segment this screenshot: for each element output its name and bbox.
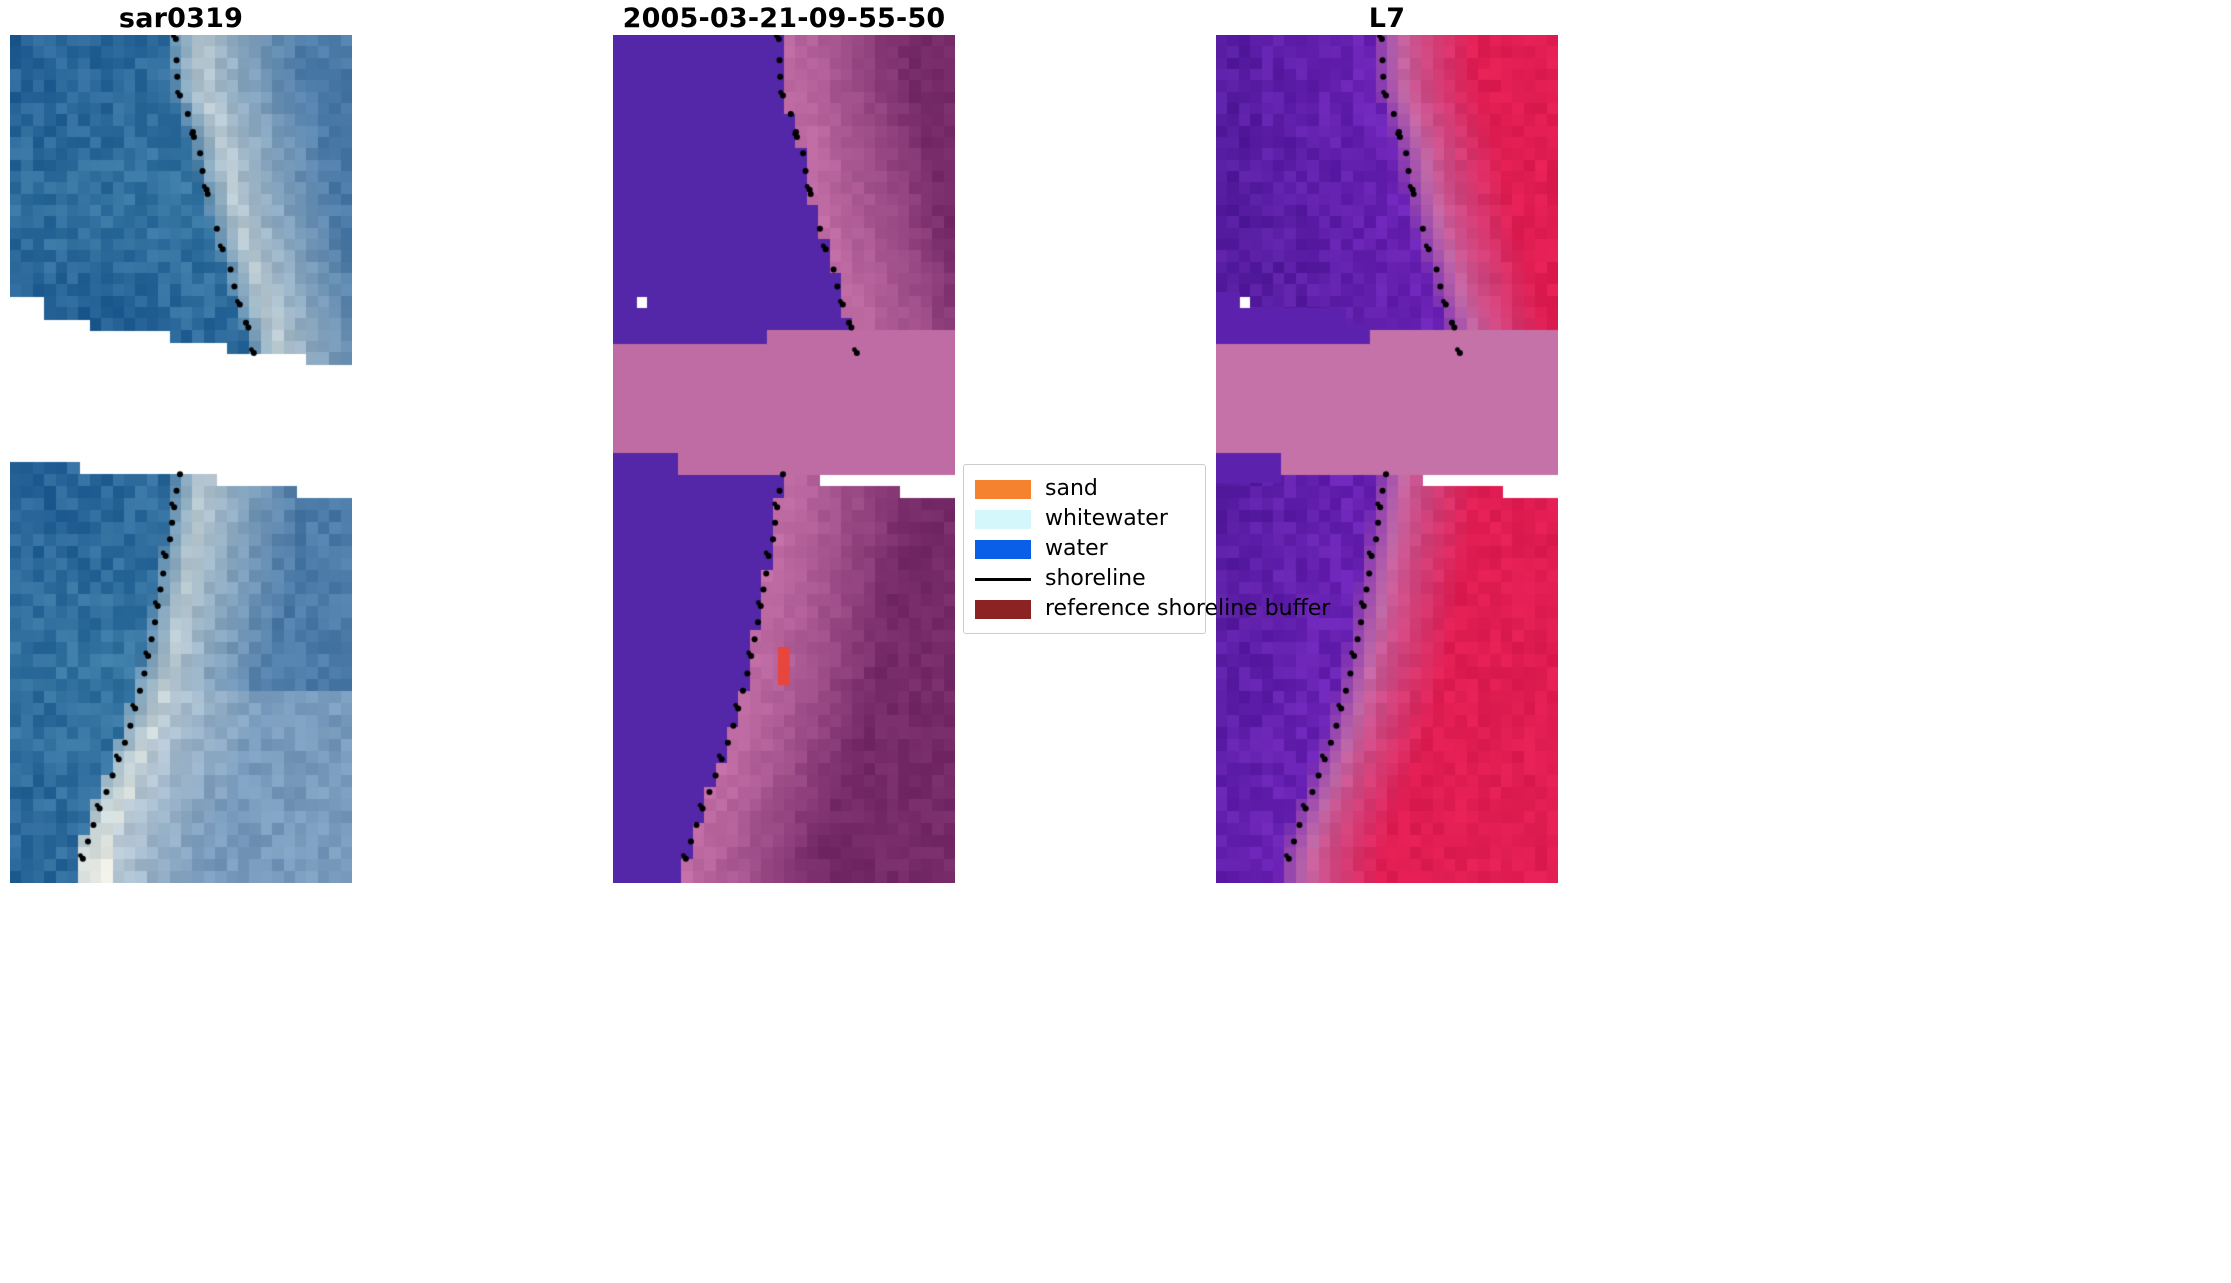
legend-box: sand whitewater water shoreline referenc… (963, 464, 1206, 634)
water-swatch (975, 540, 1031, 559)
panel-sar-rgb[interactable] (10, 35, 352, 883)
shoreline-line (975, 578, 1031, 581)
legend-label-water: water (1045, 538, 1108, 560)
legend-item-sand: sand (975, 474, 1194, 504)
legend-label-shoreline: shoreline (1045, 568, 1146, 590)
legend-item-reference-buffer: reference shoreline buffer (975, 594, 1194, 624)
classified-raster (613, 35, 955, 883)
panel-title-classified: 2005-03-21-09-55-50 (534, 2, 1034, 36)
figure-canvas: sar0319 2005-03-21-09-55-50 L7 sand whit… (0, 0, 2231, 1283)
panel-title-l7: L7 (1237, 2, 1537, 36)
legend-label-reference-buffer: reference shoreline buffer (1045, 598, 1330, 620)
legend-item-shoreline: shoreline (975, 564, 1194, 594)
legend-label-sand: sand (1045, 478, 1098, 500)
panel-title-sar: sar0319 (31, 2, 331, 36)
l7-index-raster (1216, 35, 1558, 883)
legend-label-whitewater: whitewater (1045, 508, 1168, 530)
legend-item-whitewater: whitewater (975, 504, 1194, 534)
sar-rgb-raster (10, 35, 352, 883)
whitewater-swatch (975, 510, 1031, 529)
sand-swatch (975, 480, 1031, 499)
reference-buffer-swatch (975, 600, 1031, 619)
panel-l7-index[interactable] (1216, 35, 1558, 883)
legend-item-water: water (975, 534, 1194, 564)
panel-classified[interactable] (613, 35, 955, 883)
